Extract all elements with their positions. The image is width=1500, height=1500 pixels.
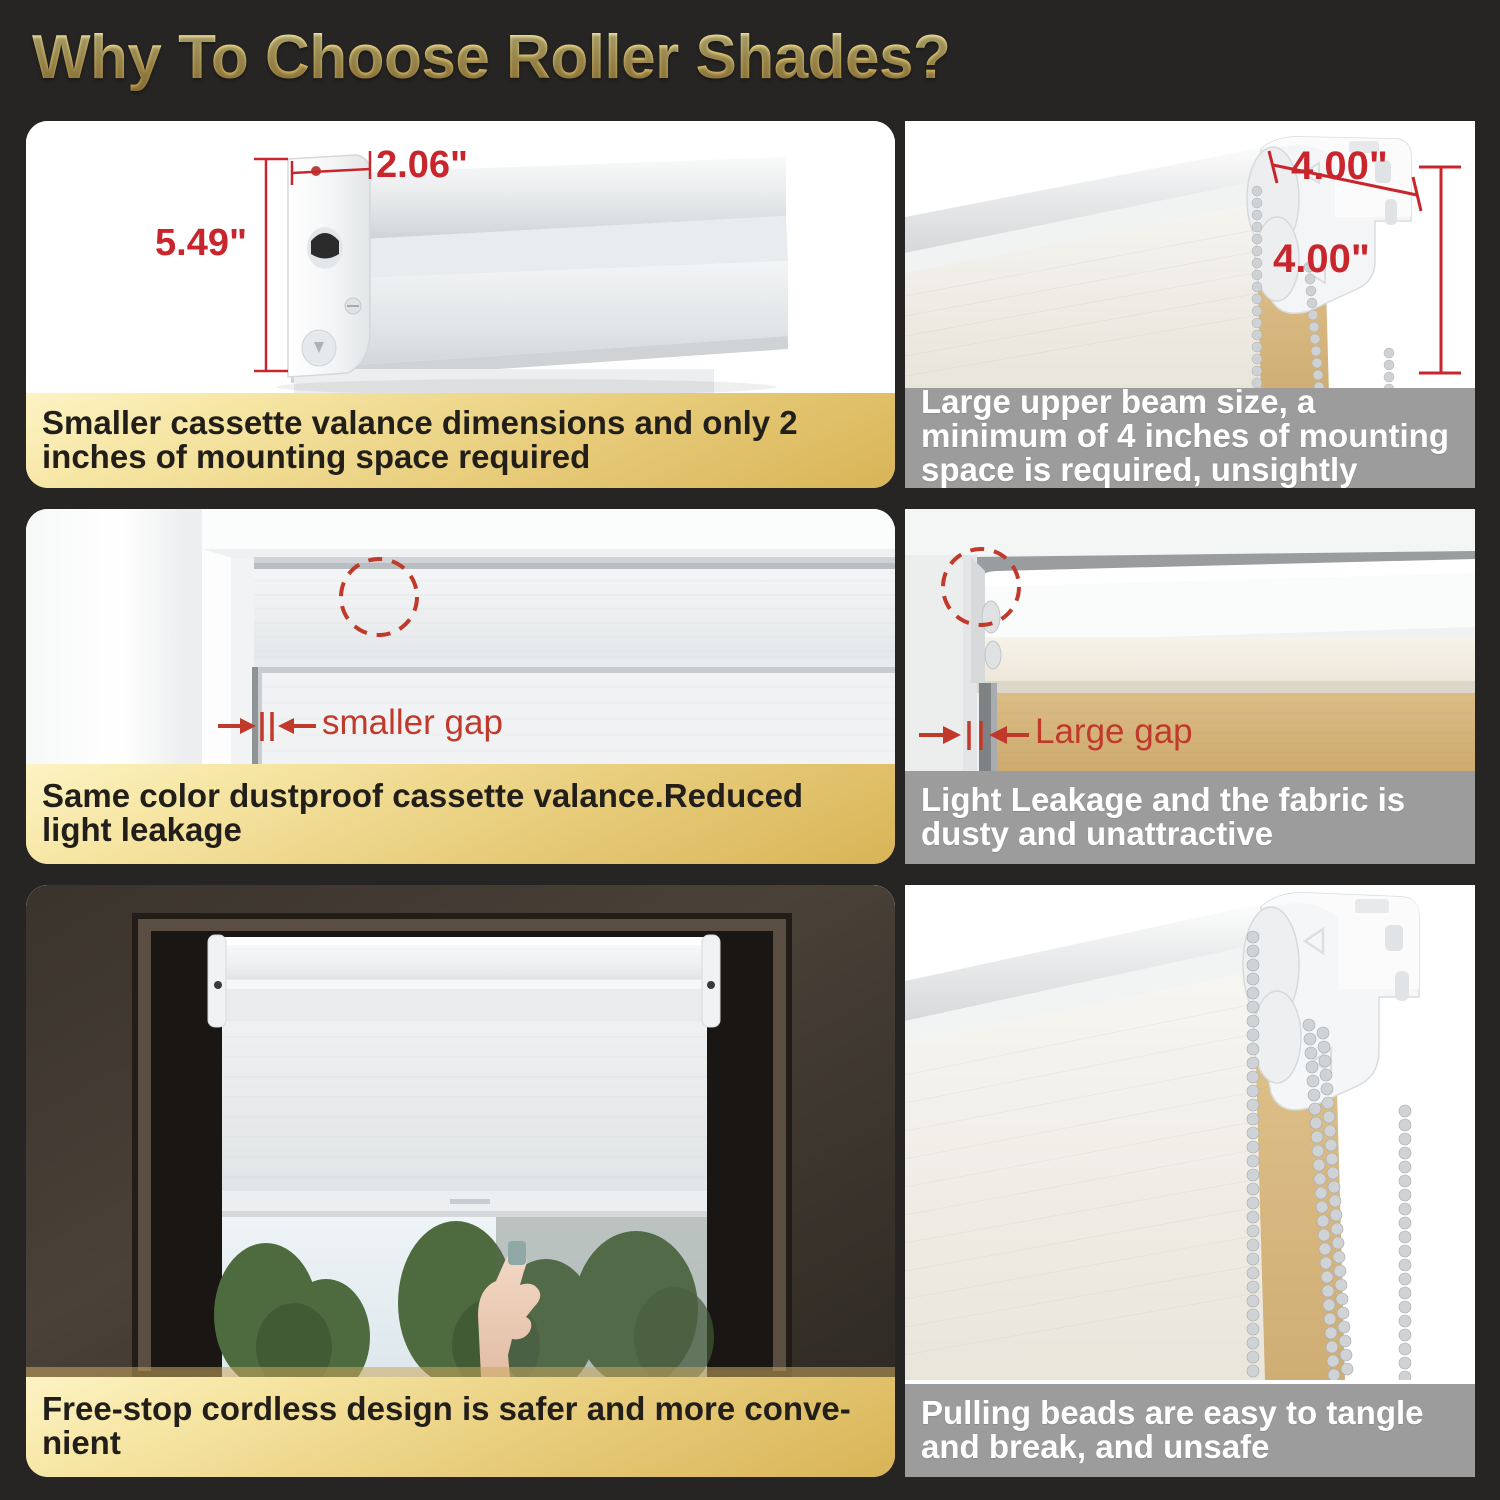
product-comparison-infographic: Why To Choose Roller Shades? xyxy=(0,0,1500,1500)
panel-smaller-cassette-valance: 2.06" 5.49" Smaller cassette valance dim… xyxy=(26,121,895,488)
gap-callout-label: Large gap xyxy=(1035,714,1193,749)
panel-large-upper-beam: 4.00" 4.00" Large upper beam size, a min… xyxy=(905,121,1475,488)
dimension-lines xyxy=(905,121,1475,394)
page-title: Why To Choose Roller Shades? xyxy=(32,22,950,93)
dimension-label-height: 4.00" xyxy=(1273,239,1370,279)
caption-band-good: Same color dustproof cassette valance.Re… xyxy=(26,764,895,864)
panel-pulling-beads: Pulling beads are easy to tangle and bre… xyxy=(905,885,1475,1477)
caption-band-bad: Pulling beads are easy to tangle and bre… xyxy=(905,1384,1475,1477)
caption-text: Same color dustproof cassette valance.Re… xyxy=(42,779,881,847)
panel-light-leakage: Large gap Light Leakage and the fabric i… xyxy=(905,509,1475,864)
caption-band-good: Free-stop cordless design is safer and m… xyxy=(26,1377,895,1477)
dimension-label-width: 2.06" xyxy=(376,146,468,184)
caption-band-bad: Large upper beam size, a minimum of 4 in… xyxy=(905,388,1475,488)
caption-text: Smaller cassette valance dimensions and … xyxy=(42,406,881,474)
caption-text: Large upper beam size, a minimum of 4 in… xyxy=(921,385,1461,487)
caption-band-bad: Light Leakage and the fabric is dusty an… xyxy=(905,771,1475,864)
panel-dustproof-cassette-valance: smaller gap Same color dustproof cassett… xyxy=(26,509,895,864)
caption-text: Pulling beads are easy to tangle and bre… xyxy=(921,1396,1461,1464)
dimension-label-height: 5.49" xyxy=(155,224,247,262)
caption-text: Light Leakage and the fabric is dusty an… xyxy=(921,783,1461,851)
caption-band-good: Smaller cassette valance dimensions and … xyxy=(26,393,895,488)
panel-free-stop-cordless: Free-stop cordless design is safer and m… xyxy=(26,885,895,1477)
gap-callout-label: smaller gap xyxy=(322,705,503,740)
cordless-shade-room-photo xyxy=(26,885,895,1377)
caption-text: Free-stop cordless design is safer and m… xyxy=(42,1392,881,1460)
dimension-label-width: 4.00" xyxy=(1291,146,1388,186)
pulling-beads-photo xyxy=(905,885,1475,1380)
